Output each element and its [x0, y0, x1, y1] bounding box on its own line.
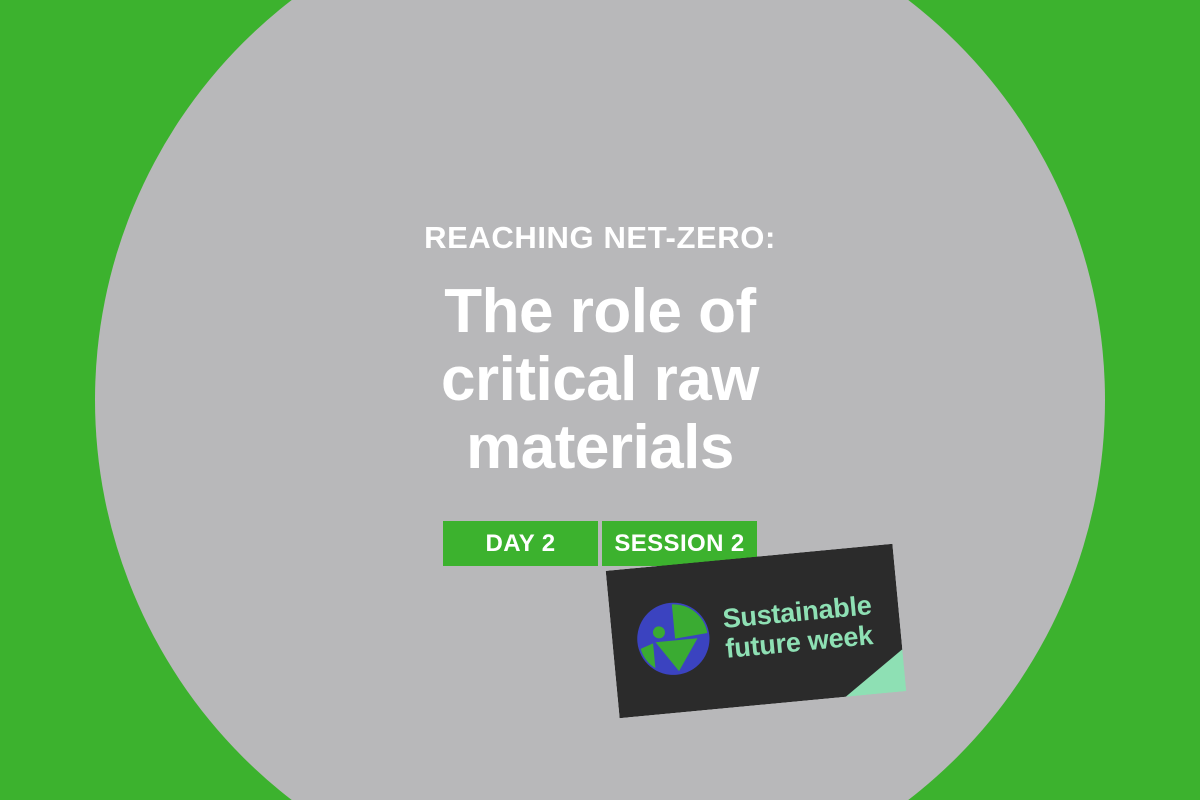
headline-line-2: critical raw [441, 346, 759, 414]
headline-line-1: The role of [441, 278, 759, 346]
sustainable-future-week-logo-card: Sustainable future week [606, 544, 907, 718]
slide-eyebrow-text: REACHING NET-ZERO: [424, 222, 776, 253]
slide-canvas: REACHING NET-ZERO: The role of critical … [0, 0, 1200, 800]
globe-logo-icon [627, 592, 721, 686]
logo-wordmark: Sustainable future week [721, 590, 875, 664]
logo-card-content: Sustainable future week [606, 544, 907, 718]
badge-day-label: DAY 2 [443, 521, 598, 566]
headline-line-3: materials [441, 414, 759, 482]
slide-headline: The role of critical raw materials [441, 278, 759, 482]
session-badge: DAY 2 SESSION 2 [443, 521, 757, 566]
slide-content: REACHING NET-ZERO: The role of critical … [0, 0, 1200, 800]
